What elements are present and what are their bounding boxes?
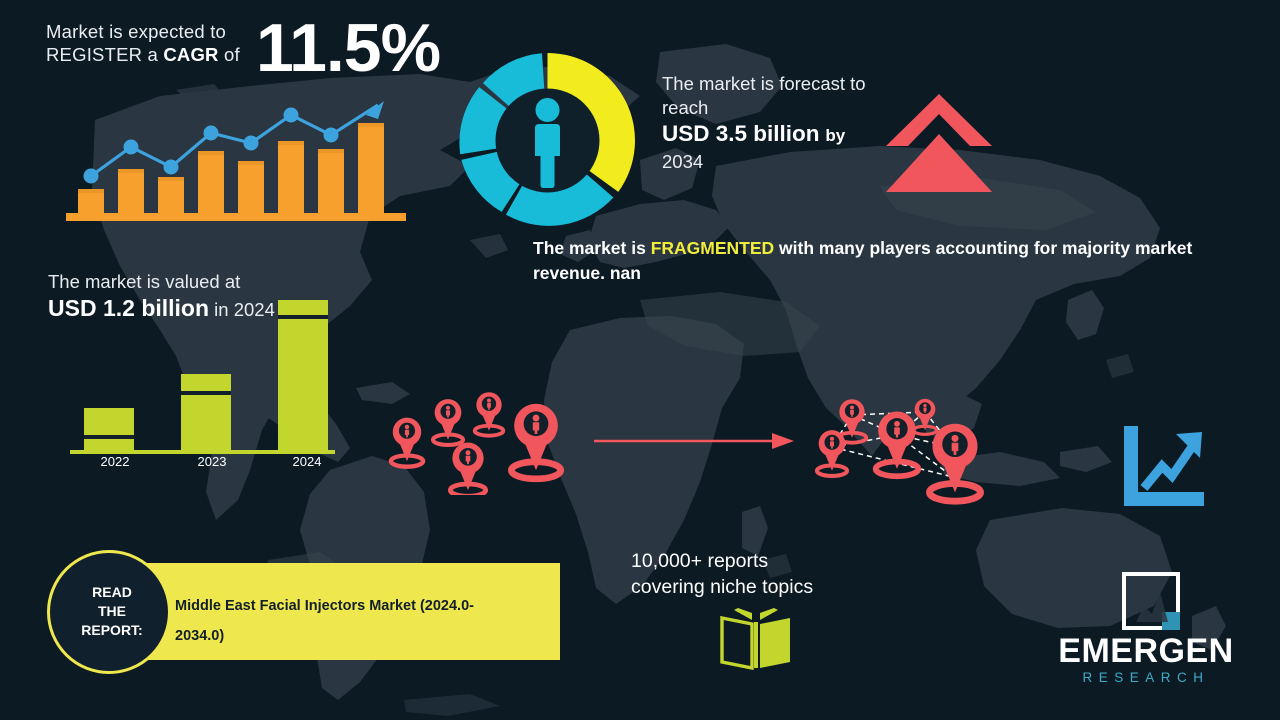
logo-name: EMERGEN: [1046, 632, 1246, 670]
map-pin-person-icon: [876, 411, 919, 476]
year-label-2024: 2024: [277, 454, 337, 469]
year-bars: [84, 300, 328, 450]
forecast-line-2: reach: [662, 96, 887, 120]
read-report-label: READ THE REPORT:: [50, 583, 174, 640]
map-pin-person-icon: [511, 404, 560, 479]
emergen-research-logo: EMERGEN RESEARCH: [1046, 572, 1246, 692]
reports-count-block: 10,000+ reports covering niche topics: [631, 548, 891, 600]
fragmentation-prefix: The market is: [533, 238, 651, 258]
double-up-arrow-icon: [884, 92, 994, 194]
map-pin-person-icon: [930, 424, 981, 501]
cagr-label-line1: Market is expected to: [46, 21, 226, 42]
read-report-label-line3: REPORT:: [81, 622, 142, 638]
read-report-button[interactable]: READ THE REPORT:: [47, 550, 171, 674]
trend-chart-icon: [1118, 422, 1206, 514]
forecast-by: by: [825, 126, 845, 145]
market-share-donut: [455, 48, 640, 233]
map-pin-person-icon: [450, 443, 485, 495]
reports-line-2: covering niche topics: [631, 574, 891, 600]
year-label-2023: 2023: [182, 454, 242, 469]
forecast-block: The market is forecast to reach USD 3.5 …: [662, 72, 887, 174]
forecast-value: USD 3.5 billion: [662, 121, 820, 146]
right-arrow-icon: [592, 428, 797, 454]
logo-mark-icon: [1122, 572, 1180, 630]
forecast-value-line: USD 3.5 billion by: [662, 120, 887, 150]
forecast-year: 2034: [662, 150, 887, 174]
read-report-label-line1: READ: [92, 584, 132, 600]
logo-subtitle: RESEARCH: [1046, 670, 1246, 686]
map-pin-person-icon: [475, 392, 504, 435]
map-pin-person-icon: [913, 399, 936, 435]
map-pin-person-icon: [391, 418, 423, 467]
read-report-label-line2: THE: [98, 603, 126, 619]
map-pin-person-icon: [817, 430, 847, 476]
cagr-value: 11.5%: [256, 6, 440, 90]
forecast-line-1: The market is forecast to: [662, 72, 887, 96]
map-pin-cluster-right: [805, 385, 1015, 505]
fragmentation-highlight: FRAGMENTED: [651, 238, 774, 258]
open-book-icon: [718, 608, 794, 670]
growth-trend-chart: [66, 85, 416, 225]
cagr-label-line2a: REGISTER a: [46, 44, 163, 65]
infographic-canvas: Market is expected to REGISTER a CAGR of…: [0, 0, 1280, 720]
cagr-label-bold: CAGR: [163, 44, 218, 65]
cagr-headline-block: Market is expected to REGISTER a CAGR of…: [46, 20, 446, 90]
map-pin-person-icon: [433, 399, 463, 445]
reports-line-1: 10,000+ reports: [631, 548, 891, 574]
year-label-2022: 2022: [85, 454, 145, 469]
cagr-label-line2c: of: [219, 44, 240, 65]
report-title: Middle East Facial Injectors Market (202…: [175, 591, 505, 651]
map-pin-cluster-left: [380, 380, 580, 495]
fragmentation-statement: The market is FRAGMENTED with many playe…: [533, 236, 1213, 286]
cagr-label: Market is expected to REGISTER a CAGR of: [46, 20, 251, 66]
market-value-by-year-chart: [70, 290, 335, 470]
growth-chart-baseline: [66, 213, 406, 221]
